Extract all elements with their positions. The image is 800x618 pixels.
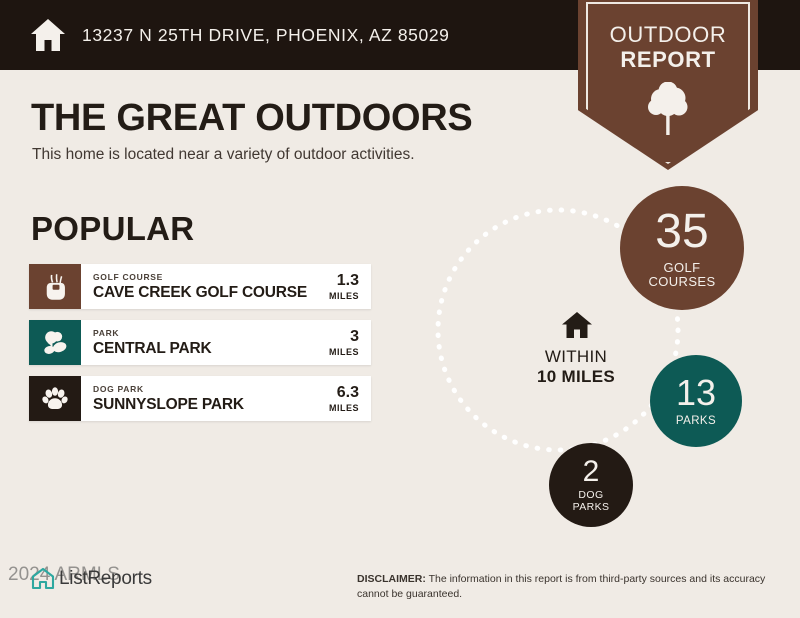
list-item-name: SUNNYSLOPE PARK bbox=[93, 397, 244, 413]
list-item-category: GOLF COURSE bbox=[93, 273, 307, 282]
disclaimer-label: DISCLAIMER: bbox=[357, 573, 426, 585]
tree-icon bbox=[646, 82, 690, 136]
page-title: THE GREAT OUTDOORS bbox=[31, 97, 472, 140]
property-address: 13237 N 25TH DRIVE, PHOENIX, AZ 85029 bbox=[82, 25, 450, 46]
golf-bag-icon bbox=[29, 264, 81, 309]
list-item-category: PARK bbox=[93, 329, 211, 338]
list-item-name: CENTRAL PARK bbox=[93, 341, 211, 357]
paw-print-icon bbox=[29, 376, 81, 421]
stat-parks[interactable]: 13 PARKS bbox=[650, 355, 742, 447]
park-tree-icon bbox=[29, 320, 81, 365]
popular-list: GOLF COURSE CAVE CREEK GOLF COURSE 1.3 M… bbox=[29, 264, 371, 432]
stat-label-line1: GOLF bbox=[648, 261, 715, 275]
list-item[interactable]: DOG PARK SUNNYSLOPE PARK 6.3 MILES bbox=[29, 376, 371, 421]
list-item-distance: 6.3 MILES bbox=[323, 376, 371, 421]
list-item-category: DOG PARK bbox=[93, 385, 244, 394]
badge-title-line2: REPORT bbox=[578, 47, 758, 73]
list-item-name: CAVE CREEK GOLF COURSE bbox=[93, 285, 307, 301]
section-heading-popular: POPULAR bbox=[31, 210, 194, 248]
badge-title-line1: OUTDOOR bbox=[578, 22, 758, 48]
disclaimer: DISCLAIMER: The information in this repo… bbox=[357, 572, 777, 602]
stat-golf-courses[interactable]: 35 GOLF COURSES bbox=[620, 186, 744, 310]
list-item-distance: 3 MILES bbox=[323, 320, 371, 365]
page-subtitle: This home is located near a variety of o… bbox=[32, 146, 415, 164]
house-icon bbox=[30, 18, 66, 52]
list-item[interactable]: PARK CENTRAL PARK 3 MILES bbox=[29, 320, 371, 365]
listreports-wordmark: ListReports bbox=[59, 568, 152, 590]
stat-label-line1: DOG bbox=[573, 490, 610, 501]
radius-label-line2: 10 MILES bbox=[486, 367, 666, 387]
stat-label-line1: PARKS bbox=[676, 415, 716, 427]
list-item[interactable]: GOLF COURSE CAVE CREEK GOLF COURSE 1.3 M… bbox=[29, 264, 371, 309]
house-icon bbox=[561, 311, 593, 339]
listreports-logo[interactable]: ListReports bbox=[30, 566, 152, 592]
stat-dog-parks[interactable]: 2 DOG PARKS bbox=[549, 443, 633, 527]
outdoor-report-infographic: 13237 N 25TH DRIVE, PHOENIX, AZ 85029 OU… bbox=[0, 0, 800, 618]
stat-label-line2: COURSES bbox=[648, 275, 715, 289]
radius-label-line1: WITHIN bbox=[486, 347, 666, 367]
house-outline-icon bbox=[30, 566, 56, 592]
list-item-distance: 1.3 MILES bbox=[323, 264, 371, 309]
stat-label-line2: PARKS bbox=[573, 502, 610, 513]
